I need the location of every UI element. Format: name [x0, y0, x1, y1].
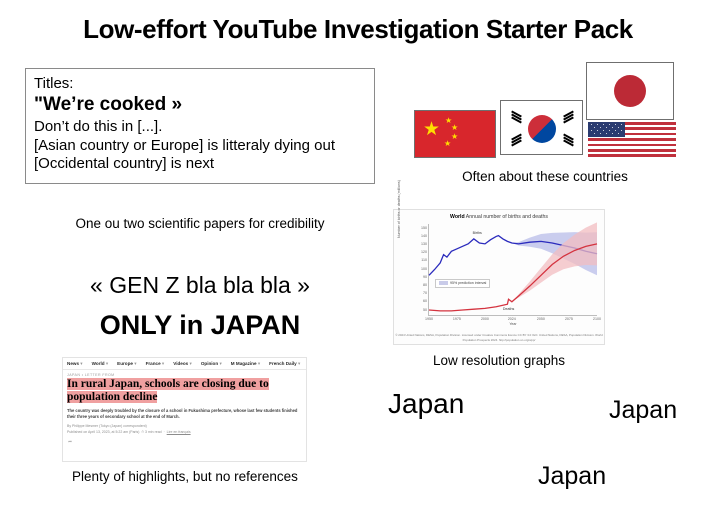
graph-title: World Annual number of births and deaths [394, 214, 604, 220]
usa-flag [588, 122, 676, 160]
china-flag-small-star: ★ [444, 140, 451, 148]
title-line-cooked: "We’re cooked » [34, 93, 366, 118]
graph-y-axis-label: Number of births or deaths (millions) [397, 180, 401, 238]
article-nav-item: Opinion [201, 361, 222, 367]
article-nav-item: M Magazine [231, 361, 260, 367]
graph-x-axis-label: Year [509, 322, 516, 326]
series-label-births: Births [473, 231, 482, 235]
article-nav-item: French Daily [269, 361, 300, 367]
titles-box: Titles: "We’re cooked » Don’t do this in… [25, 68, 375, 184]
south-korea-flag [500, 100, 583, 155]
japan-word: Japan [388, 388, 464, 420]
caption-article: Plenty of highlights, but no references [45, 469, 325, 484]
japan-word: Japan [609, 396, 677, 425]
x-tick: 2050 [537, 317, 545, 321]
y-tick: 150 [421, 226, 427, 230]
title-line-dying-out: [Asian country or Europe] is litteraly d… [34, 137, 366, 155]
article-translate-link[interactable]: Lire en français [167, 430, 191, 434]
article-standfirst: The country was deeply troubled by the c… [63, 404, 306, 420]
article-nav: News World Europe France Videos Opinion … [63, 358, 306, 370]
y-tick: 120 [421, 250, 427, 254]
x-tick: 2000 [481, 317, 489, 321]
only-in-japan-text: ONLY in JAPAN [0, 310, 400, 341]
title-line-dont-do-this: Don’t do this in [...]. [34, 118, 366, 136]
china-flag-small-star: ★ [451, 124, 458, 132]
news-article-screenshot: News World Europe France Videos Opinion … [62, 357, 307, 462]
titles-label: Titles: [34, 75, 366, 93]
y-tick: 110 [421, 258, 427, 262]
article-nav-item: World [92, 361, 109, 367]
y-tick: 50 [423, 308, 427, 312]
population-graph-image: World Annual number of births and deaths… [393, 209, 605, 345]
y-tick: 60 [423, 299, 427, 303]
graph-series-svg [429, 224, 597, 315]
taeguk-circle [528, 115, 556, 143]
genz-text: « GEN Z bla bla bla » [0, 272, 400, 299]
article-nav-item: News [67, 361, 83, 367]
page-title: Low-effort YouTube Investigation Starter… [0, 14, 716, 45]
legend-swatch [439, 281, 448, 285]
graph-legend: 95% prediction interval [435, 279, 490, 288]
article-breadcrumb: JAPAN • LETTER FROM [63, 370, 306, 378]
japan-flag [586, 62, 674, 120]
china-flag-small-star: ★ [451, 133, 458, 141]
caption-countries: Often about these countries [400, 169, 690, 184]
graph-plot-area: 150 140 130 120 110 100 90 80 70 60 50 1… [428, 224, 597, 316]
series-label-deaths: Deaths [503, 307, 514, 311]
x-tick: 2024 [508, 317, 516, 321]
caption-graphs: Low resolution graphs [393, 353, 605, 368]
y-tick: 80 [423, 283, 427, 287]
title-line-next: [Occidental country] is next [34, 155, 366, 173]
article-byline-block: By Philippe Mesmer (Tokyo (Japan) corres… [63, 420, 306, 435]
y-tick: 100 [421, 267, 427, 271]
y-tick: 140 [421, 234, 427, 238]
article-nav-item: France [146, 361, 165, 367]
x-tick: 2100 [593, 317, 601, 321]
japan-word: Japan [538, 462, 606, 491]
legend-label: 95% prediction interval [450, 281, 486, 285]
china-flag-big-star: ★ [423, 120, 440, 139]
article-published: Published on April 13, 2023, at 5:22 am … [67, 430, 139, 434]
hinomaru-disc [614, 75, 646, 107]
graph-title-bold: World [450, 214, 465, 220]
y-tick: 130 [421, 242, 427, 246]
x-tick: 2075 [565, 317, 573, 321]
graph-credit: © 2024 United Nations, DESA, Population … [394, 333, 604, 342]
x-tick: 1950 [425, 317, 433, 321]
article-headline-highlight: In rural Japan, schools are closing due … [67, 378, 269, 403]
article-readtime: 3 min read [145, 430, 162, 434]
article-nav-item: Videos [173, 361, 192, 367]
share-icon[interactable]: ➦ [63, 435, 306, 445]
graph-title-rest: Annual number of births and deaths [466, 214, 548, 220]
article-nav-item: Europe [117, 361, 136, 367]
y-tick: 70 [423, 291, 427, 295]
usa-flag-canton [588, 122, 625, 137]
china-flag: ★ ★ ★ ★ ★ [414, 110, 496, 158]
y-tick: 90 [423, 275, 427, 279]
caption-papers: One ou two scientific papers for credibi… [25, 216, 375, 231]
article-headline: In rural Japan, schools are closing due … [63, 378, 306, 404]
x-tick: 1975 [453, 317, 461, 321]
